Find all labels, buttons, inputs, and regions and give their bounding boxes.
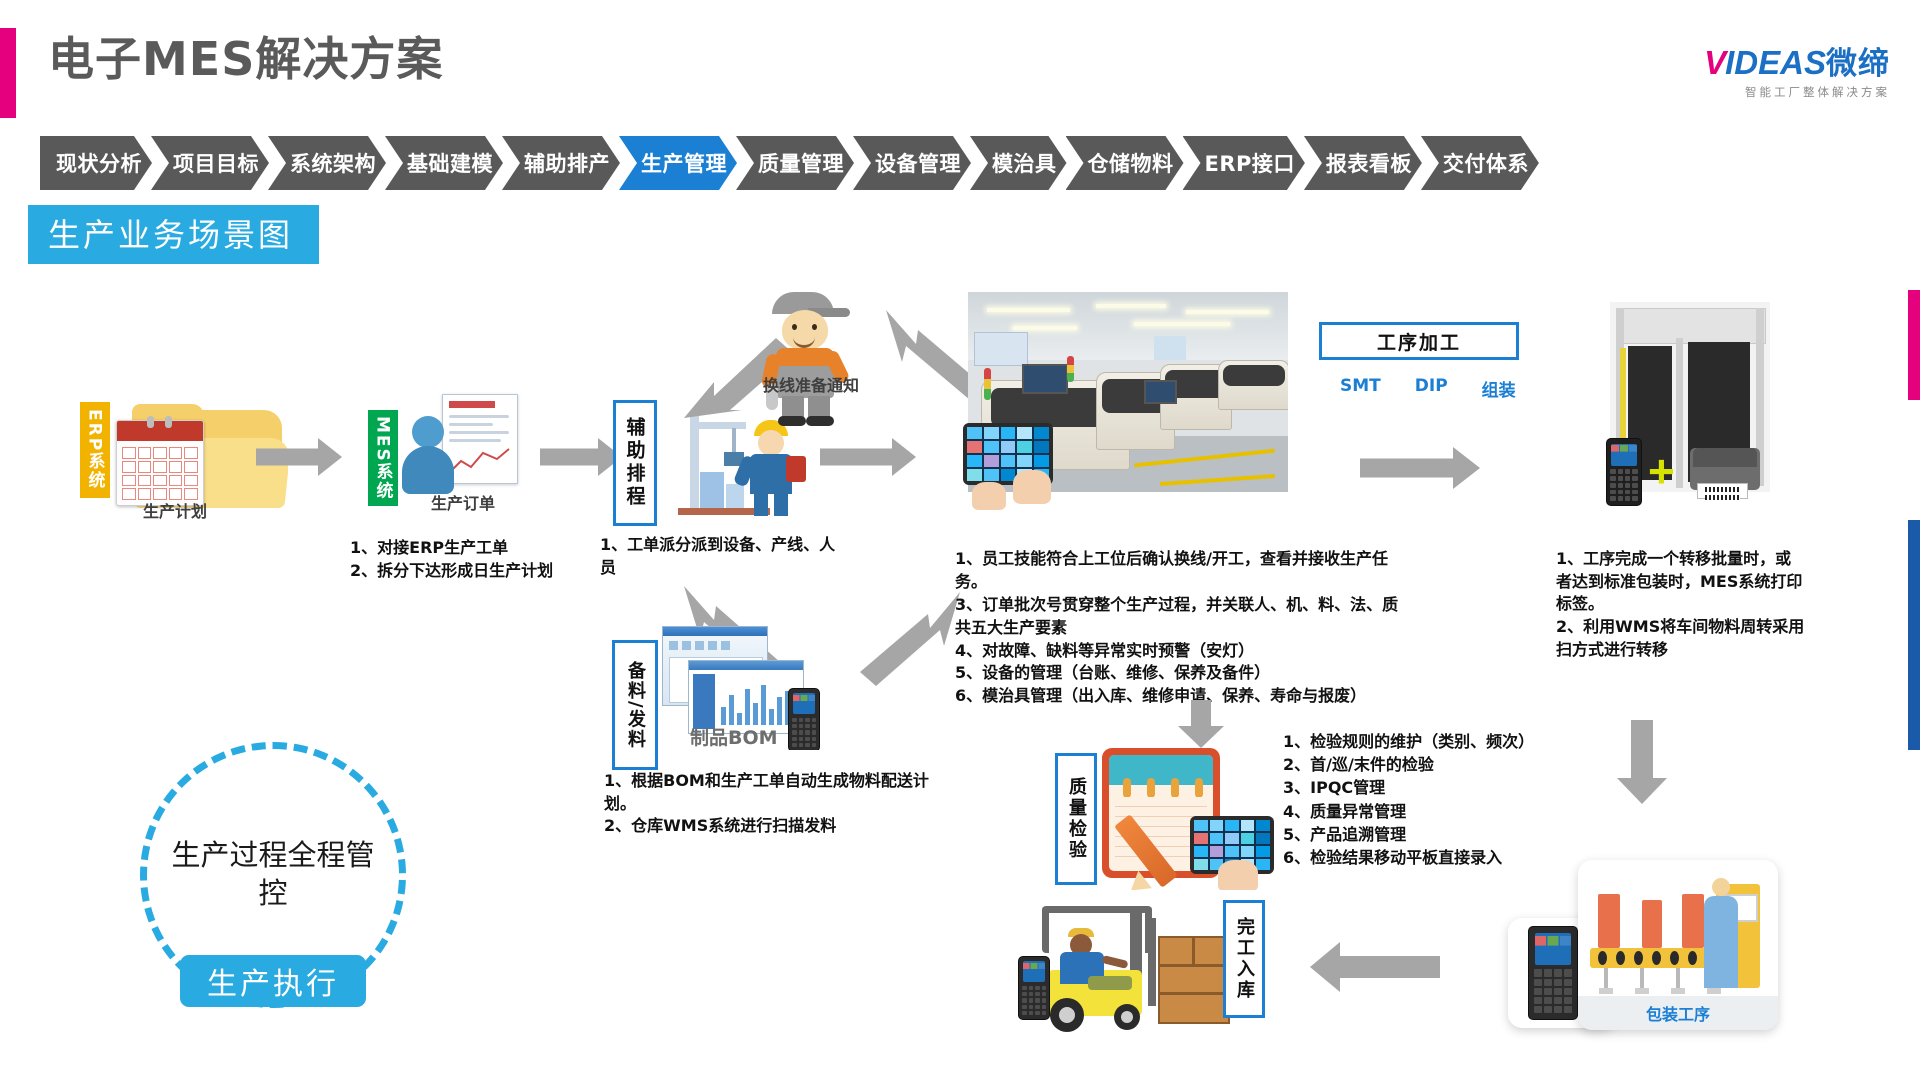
edge-accent-pink xyxy=(1908,290,1920,400)
brand-logo: VIDEAS微缔 智能工厂整体解决方案 xyxy=(1620,46,1890,100)
logo-tagline: 智能工厂整体解决方案 xyxy=(1620,84,1890,100)
nav-chevron-label: 现状分析 xyxy=(56,148,142,178)
nav-chevron-7[interactable]: 质量管理 xyxy=(736,136,854,190)
nav-chevron-label: ERP接口 xyxy=(1205,148,1295,178)
arrow-process-to-rack xyxy=(1360,448,1480,488)
packaging-process-card: 包装工序 xyxy=(1578,860,1778,1030)
nav-chevron-1[interactable]: 现状分析 xyxy=(40,136,152,190)
logo-wordmark: IDEAS xyxy=(1725,44,1826,81)
product-bom-caption: 制品BOM xyxy=(690,723,830,750)
plus-icon: + xyxy=(1648,448,1675,494)
arrow-material-to-shopfloor xyxy=(836,586,966,686)
nav-chevron-10[interactable]: 仓储物料 xyxy=(1066,136,1184,190)
smt-magazine-rack-illustration: + xyxy=(1602,292,1782,507)
logo-v-mark: V xyxy=(1704,44,1725,81)
changeover-worker-illustration xyxy=(762,292,858,434)
arrow-mes-to-scheduling xyxy=(540,440,622,474)
arrow-erp-to-mes xyxy=(256,440,342,474)
hand-illustration-2 xyxy=(972,482,1006,510)
production-execution-button[interactable]: 生产执行 xyxy=(180,955,366,1007)
nav-chevron-4[interactable]: 基础建模 xyxy=(385,136,503,190)
arrow-rack-to-packaging xyxy=(1620,720,1664,804)
erp-system-chip: ERP系统 xyxy=(80,402,110,498)
arrow-packaging-to-warehouse xyxy=(1310,945,1440,989)
nav-chevron-13[interactable]: 交付体系 xyxy=(1421,136,1539,190)
nav-chevron-label: 项目目标 xyxy=(173,148,259,178)
process-tags: SMTDIP组装 xyxy=(1340,376,1516,401)
nav-chevron-label: 交付体系 xyxy=(1443,148,1529,178)
edge-accent-blue xyxy=(1908,520,1920,750)
hand-illustration xyxy=(1013,470,1051,504)
section-nav[interactable]: 现状分析项目目标系统架构基础建模辅助排产生产管理质量管理设备管理模治具仓储物料E… xyxy=(40,136,1538,190)
nav-chevron-label: 辅助排产 xyxy=(524,148,610,178)
summary-circle-text: 生产过程全程管控 xyxy=(168,837,378,912)
changeover-caption: 换线准备通知 xyxy=(716,372,906,396)
production-order-caption: 生产订单 xyxy=(398,490,528,514)
nav-chevron-6[interactable]: 生产管理 xyxy=(619,136,737,190)
nav-chevron-9[interactable]: 模治具 xyxy=(970,136,1067,190)
nav-chevron-label: 基础建模 xyxy=(407,148,493,178)
shopfloor-notes: 1、员工技能符合上工位后确认换线/开工，查看并接收生产任务。 3、订单批次号贯穿… xyxy=(955,548,1405,708)
scheduling-notes: 1、工单派分派到设备、产线、人员 xyxy=(600,534,846,579)
quality-notes: 1、检验规则的维护（类别、频次） 2、首/巡/末件的检验 3、IPQC管理 4、… xyxy=(1283,730,1613,869)
mes-system-chip: MES系统 xyxy=(368,410,398,506)
nav-chevron-label: 报表看板 xyxy=(1326,148,1412,178)
material-notes: 1、根据BOM和生产工单自动生成物料配送计划。 2、仓库WMS系统进行扫描发料 xyxy=(604,770,944,838)
packaging-caption: 包装工序 xyxy=(1578,996,1778,1030)
nav-chevron-2[interactable]: 项目目标 xyxy=(151,136,269,190)
material-prep-label: 备料/发料 xyxy=(612,640,658,770)
nav-chevron-11[interactable]: ERP接口 xyxy=(1183,136,1305,190)
process-tag-3: 组装 xyxy=(1482,376,1516,401)
transfer-notes: 1、工序完成一个转移批量时，或者达到标准包装时，MES系统打印标签。 2、利用W… xyxy=(1556,548,1806,662)
nav-chevron-label: 仓储物料 xyxy=(1088,148,1174,178)
header-accent-bar-left xyxy=(0,28,16,118)
nav-chevron-label: 设备管理 xyxy=(875,148,961,178)
nav-chevron-label: 模治具 xyxy=(992,148,1057,178)
nav-chevron-label: 质量管理 xyxy=(758,148,844,178)
nav-chevron-label: 系统架构 xyxy=(290,148,376,178)
arrow-shopfloor-to-quality xyxy=(1180,700,1222,748)
process-tag-2: DIP xyxy=(1415,376,1448,401)
quality-inspection-illustration xyxy=(1102,748,1280,890)
nav-chevron-3[interactable]: 系统架构 xyxy=(268,136,386,190)
arrow-scheduling-to-shopfloor xyxy=(820,440,916,474)
scheduling-label: 辅助排程 xyxy=(613,400,657,526)
nav-chevron-label: 生产管理 xyxy=(641,148,727,178)
mes-notes: 1、对接ERP生产工单 2、拆分下达形成日生产计划 xyxy=(350,537,570,582)
nav-chevron-5[interactable]: 辅助排产 xyxy=(502,136,620,190)
process-box: 工序加工 xyxy=(1319,322,1519,360)
warehouse-in-label: 完工入库 xyxy=(1223,900,1265,1018)
logo-chinese-name: 微缔 xyxy=(1826,46,1890,81)
process-tag-1: SMT xyxy=(1340,376,1381,401)
nav-chevron-12[interactable]: 报表看板 xyxy=(1304,136,1422,190)
quality-inspection-label: 质量检验 xyxy=(1055,753,1097,885)
section-banner: 生产业务场景图 xyxy=(28,205,319,264)
production-plan-caption: 生产计划 xyxy=(110,498,240,522)
nav-chevron-8[interactable]: 设备管理 xyxy=(853,136,971,190)
page-title: 电子MES解决方案 xyxy=(48,36,443,82)
forklift-illustration xyxy=(1018,900,1234,1040)
